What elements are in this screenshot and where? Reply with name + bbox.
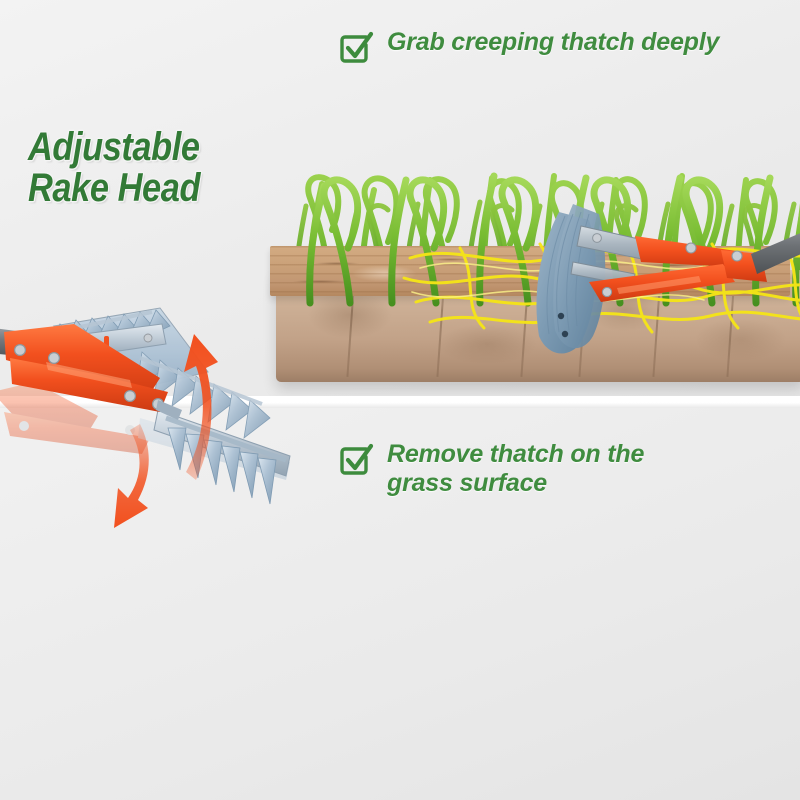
feature-bullet-grab-thatch: Grab creeping thatch deeply: [338, 28, 719, 65]
headline-block: Adjustable Rake Head: [28, 128, 308, 208]
thatch-cross-section-scene: [270, 80, 800, 396]
feature-bullet-text-multiline: Remove thatch on the grass surface: [387, 440, 644, 497]
adjustable-rake-head-product: [0, 240, 300, 530]
checkbox-checked-icon: [338, 31, 372, 65]
feature-bullet-text: Grab creeping thatch deeply: [387, 28, 719, 57]
feature-bullet-remove-thatch: Remove thatch on the grass surface: [338, 440, 644, 497]
headline-line-1: Adjustable: [28, 128, 269, 167]
headline-line-2: Rake Head: [28, 169, 269, 208]
infographic-canvas: Adjustable Rake Head Grab creeping thatc…: [0, 0, 800, 800]
rake-tool-top: [485, 170, 800, 360]
feature-bullet-text-line-1: Remove thatch on the: [387, 440, 644, 468]
feature-bullet-text-line-2: grass surface: [387, 469, 547, 497]
checkbox-checked-icon: [338, 443, 372, 477]
product-detail-panel: [0, 240, 300, 530]
